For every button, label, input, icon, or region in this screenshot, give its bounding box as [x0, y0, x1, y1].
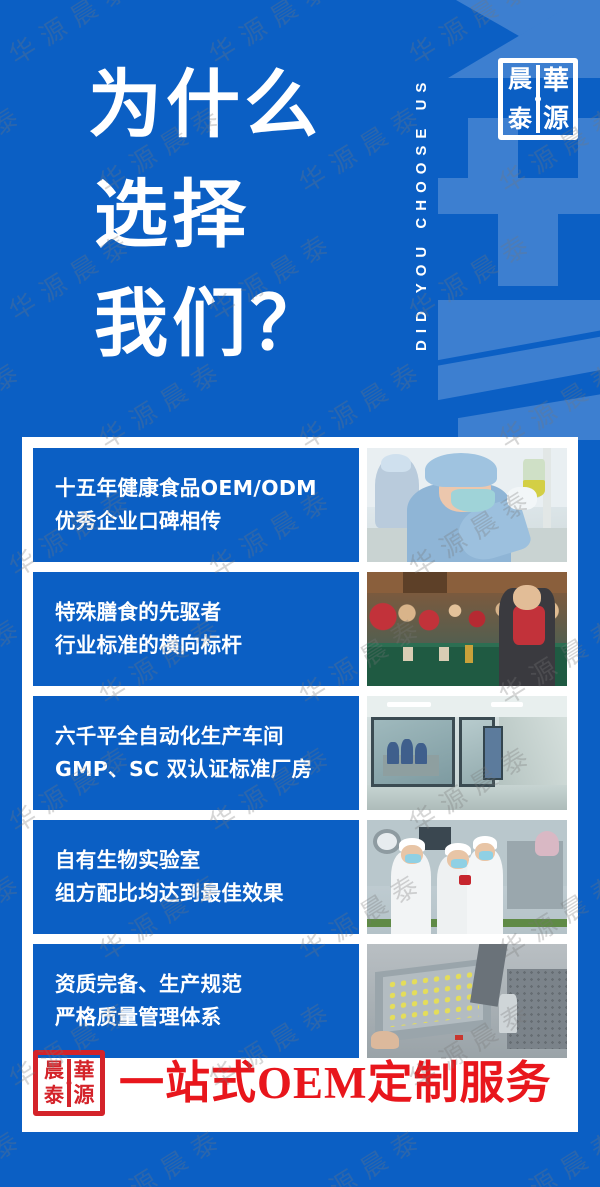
cleanroom-corridor-photo: [367, 696, 567, 810]
feature-line-1: 十五年健康食品OEM/ODM: [55, 472, 337, 505]
footer-banner-text: 一站式OEM定制服务: [119, 1061, 552, 1106]
seal-char-chen: 晨: [41, 1061, 67, 1081]
feature-line-2: 优秀企业口碑相传: [55, 505, 337, 538]
feature-line-1: 六千平全自动化生产车间: [55, 720, 337, 753]
features-panel: 十五年健康食品OEM/ODM 优秀企业口碑相传 特殊膳食的先驱者 行业标准的横向…: [22, 437, 578, 1132]
feature-line-1: 自有生物实验室: [55, 844, 337, 877]
lab-technician-photo: [367, 448, 567, 562]
seal-center-dot: [67, 1081, 72, 1086]
seal-char-hua: 華: [71, 1061, 97, 1082]
tablet-packaging-machine-photo: [367, 944, 567, 1058]
title-line-1: 为什么: [88, 52, 388, 162]
feature-line-2: 组方配比均达到最佳效果: [55, 877, 337, 910]
feature-row: 资质完备、生产规范 严格质量管理体系: [33, 944, 567, 1058]
seal-char-chen: 晨: [504, 68, 536, 92]
page-title: 为什么 选择 我们？: [88, 52, 388, 381]
feature-line-2: 行业标准的横向标杆: [55, 629, 337, 662]
seal-center-dot: [535, 96, 541, 102]
brand-seal-red: 華 源 晨 泰: [33, 1050, 105, 1116]
feature-row: 十五年健康食品OEM/ODM 优秀企业口碑相传: [33, 448, 567, 562]
feature-row: 特殊膳食的先驱者 行业标准的横向标杆: [33, 572, 567, 686]
feature-row: 六千平全自动化生产车间 GMP、SC 双认证标准厂房: [33, 696, 567, 810]
conference-audience-photo: [367, 572, 567, 686]
title-line-3: 我们？: [88, 271, 388, 381]
production-line-workers-photo: [367, 820, 567, 934]
feature-text-block: 资质完备、生产规范 严格质量管理体系: [33, 944, 359, 1058]
feature-line-1: 特殊膳食的先驱者: [55, 596, 337, 629]
brand-seal-white: 華 源 晨 泰: [498, 58, 578, 140]
title-line-2: 选择: [88, 162, 388, 272]
feature-line-2: GMP、SC 双认证标准厂房: [55, 753, 337, 786]
feature-text-block: 特殊膳食的先驱者 行业标准的横向标杆: [33, 572, 359, 686]
poster-root: 为什么 选择 我们？ DID YOU CHOOSE US 華 源 晨 泰 十五年…: [0, 0, 600, 1187]
features-list: 十五年健康食品OEM/ODM 优秀企业口碑相传 特殊膳食的先驱者 行业标准的横向…: [33, 448, 567, 1058]
seal-char-yuan: 源: [71, 1085, 97, 1106]
feature-line-1: 资质完备、生产规范: [55, 968, 337, 1001]
vertical-tagline: DID YOU CHOOSE US: [396, 18, 430, 408]
feature-text-block: 六千平全自动化生产车间 GMP、SC 双认证标准厂房: [33, 696, 359, 810]
feature-row: 自有生物实验室 组方配比均达到最佳效果: [33, 820, 567, 934]
feature-line-2: 严格质量管理体系: [55, 1001, 337, 1034]
feature-text-block: 十五年健康食品OEM/ODM 优秀企业口碑相传: [33, 448, 359, 562]
seal-char-yuan: 源: [540, 106, 572, 132]
seal-char-tai: 泰: [504, 108, 536, 132]
footer-banner: 華 源 晨 泰 一站式OEM定制服务: [33, 1045, 567, 1121]
seal-char-hua: 華: [540, 68, 572, 94]
seal-char-tai: 泰: [41, 1086, 67, 1106]
watermark-text: 华源晨泰: [0, 93, 33, 201]
feature-text-block: 自有生物实验室 组方配比均达到最佳效果: [33, 820, 359, 934]
